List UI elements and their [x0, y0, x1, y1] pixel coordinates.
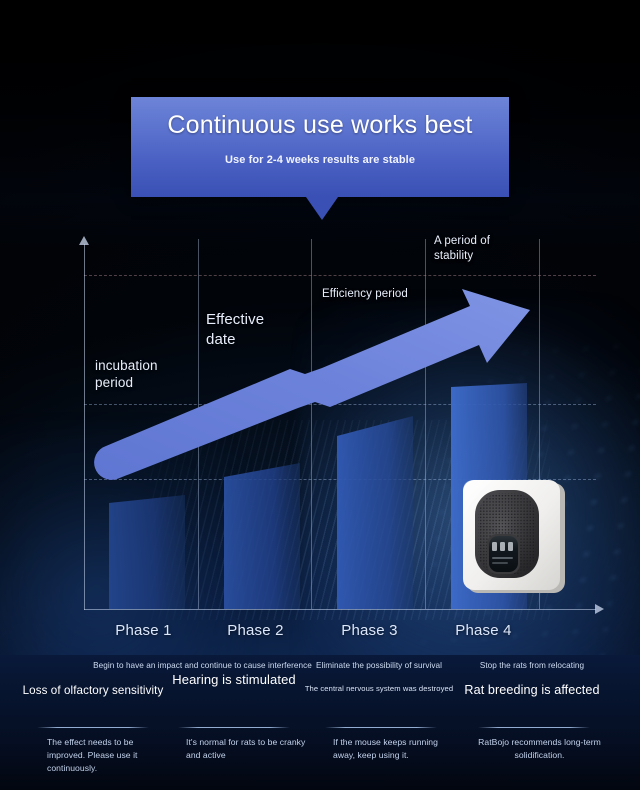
x-axis-arrow — [595, 604, 604, 614]
region-label-incubation-period: incubation period — [95, 357, 195, 391]
summary-column-2: Hearing is stimulated — [154, 660, 314, 687]
summary-divider-4 — [478, 727, 590, 728]
summary-4-tiny-top: Stop the rats from relocating — [452, 660, 612, 671]
summary-1-note: The effect needs to be improved. Please … — [47, 736, 167, 775]
summary-divider-2 — [178, 727, 290, 728]
summary-3-headline: The central nervous system was destroyed — [299, 683, 459, 694]
summary-divider-3 — [325, 727, 437, 728]
summary-2-note: It's normal for rats to be cranky and ac… — [186, 736, 306, 762]
summary-divider-1 — [37, 727, 149, 728]
phase-label-2: Phase 2 — [199, 622, 312, 639]
y-axis-arrow — [79, 236, 89, 245]
y-axis-line — [84, 244, 85, 610]
phase-label-3: Phase 3 — [313, 622, 426, 639]
phase-label-1: Phase 1 — [86, 622, 201, 639]
summary-4-note: RatBojo recommends long-term solidificat… — [472, 736, 607, 762]
bar-phase-2 — [224, 463, 300, 609]
region-label-period-of-stability: A period of stability — [434, 234, 514, 264]
product-device-image — [461, 476, 571, 600]
summary-1-headline: Loss of olfactory sensitivity — [13, 683, 173, 698]
summary-3-tiny-top: Eliminate the possibility of survival — [299, 660, 459, 671]
summary-column-1: Begin to have an impact and continue to … — [13, 660, 173, 698]
infographic-poster: Continuous use works best Use for 2-4 we… — [0, 0, 640, 790]
bar-phase-1 — [109, 495, 185, 609]
summary-3-note: If the mouse keeps running away, keep us… — [333, 736, 453, 762]
summary-column-4: Stop the rats from relocating Rat breedi… — [452, 660, 612, 698]
region-label-effective-date: Effective date — [206, 310, 296, 350]
phase-label-4: Phase 4 — [427, 622, 540, 639]
summary-2-headline: Hearing is stimulated — [154, 672, 314, 687]
bar-phase-3 — [337, 416, 413, 609]
region-label-efficiency-period: Efficiency period — [322, 287, 432, 302]
x-axis-line — [84, 609, 596, 610]
summary-column-3: Eliminate the possibility of survival Th… — [299, 660, 459, 694]
summary-4-headline: Rat breeding is affected — [452, 683, 612, 698]
